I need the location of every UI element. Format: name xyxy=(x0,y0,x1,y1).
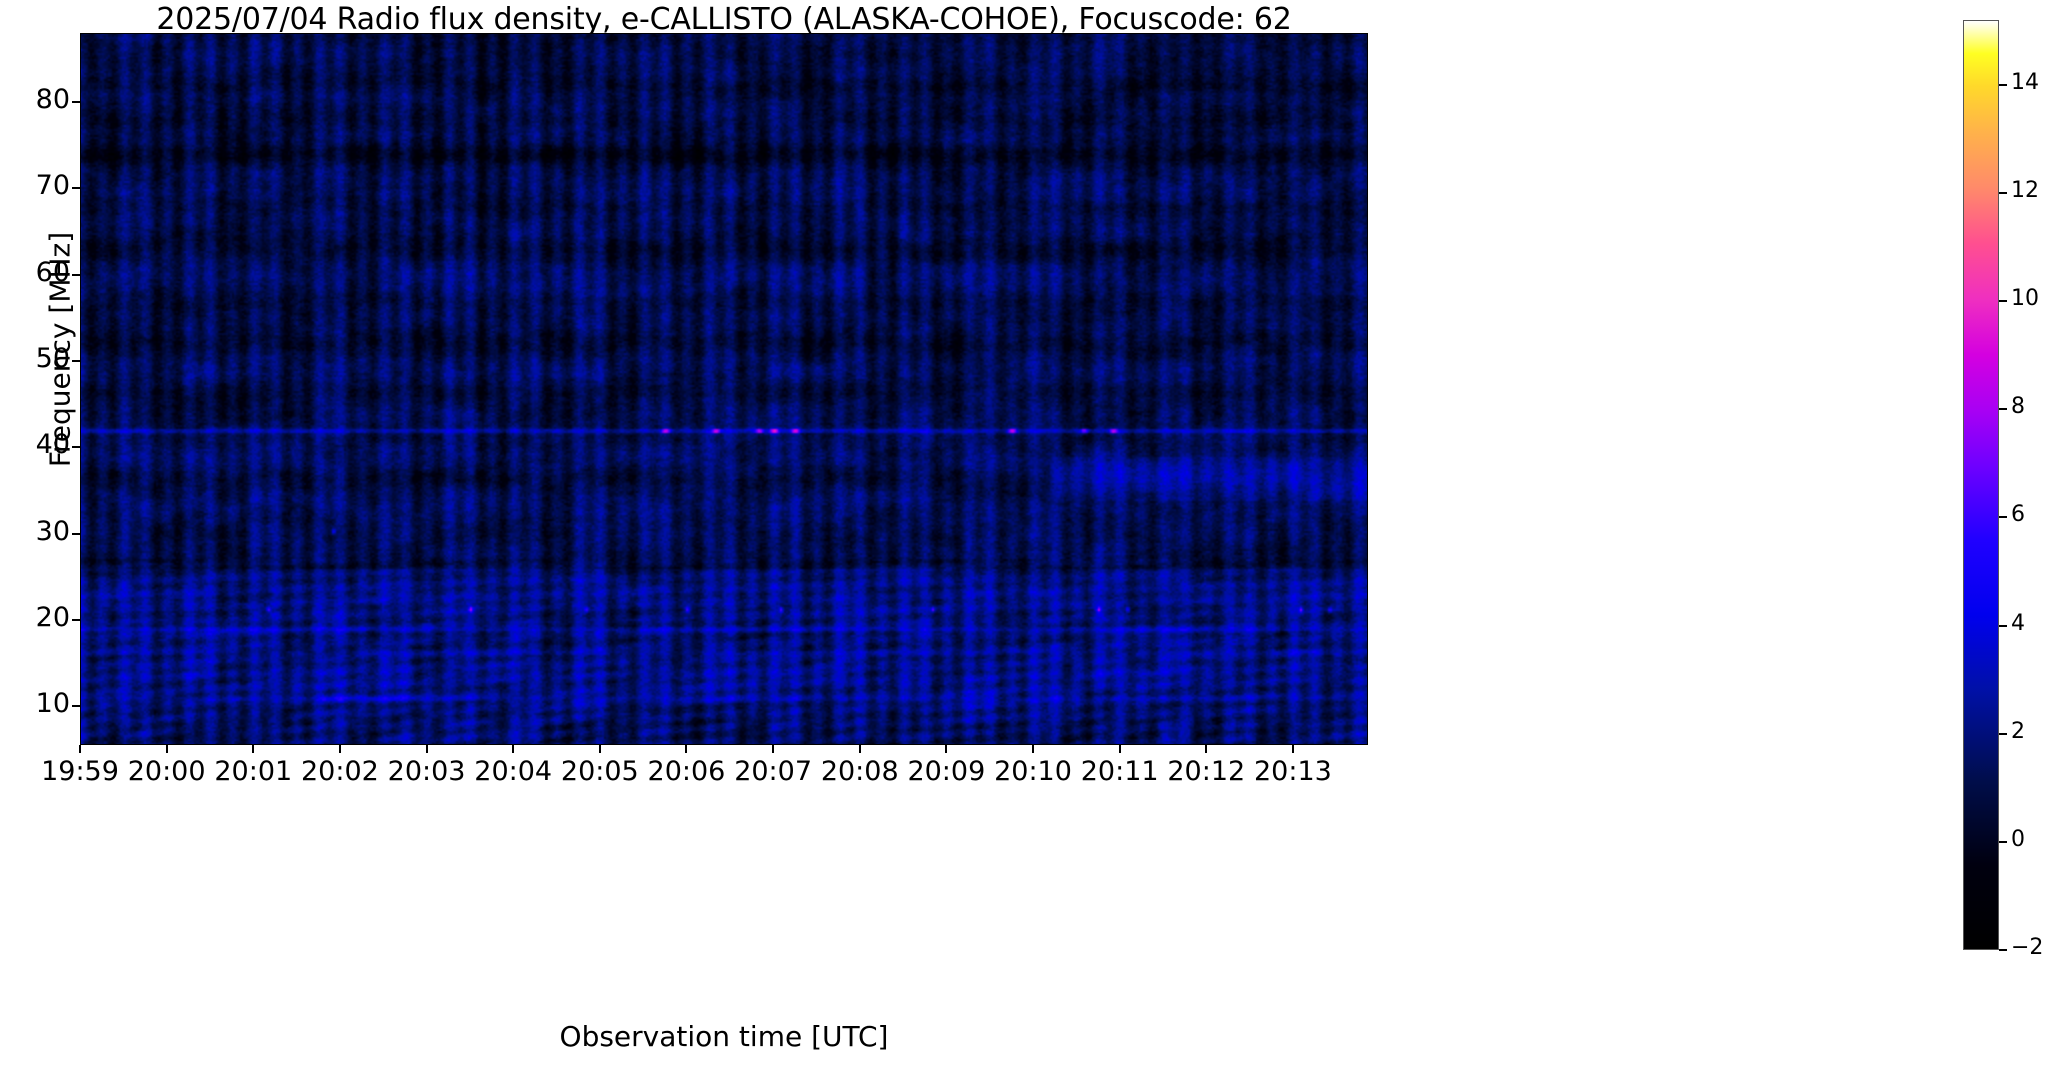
colorbar-tick-mark xyxy=(1999,841,2007,843)
colorbar-tick-mark xyxy=(1999,733,2007,735)
colorbar-tick-label-10: 10 xyxy=(2011,286,2047,311)
colorbar xyxy=(1963,20,1999,950)
colorbar-tick-label-4: 4 xyxy=(2011,611,2047,636)
colorbar-tick-label-14: 14 xyxy=(2011,70,2047,95)
colorbar-gradient xyxy=(1964,21,1998,949)
x-tick-mark xyxy=(599,745,601,753)
colorbar-tick-mark xyxy=(1999,949,2007,951)
y-tick-mark xyxy=(72,619,80,621)
colorbar-tick-label-8: 8 xyxy=(2011,394,2047,419)
colorbar-tick-mark xyxy=(1999,625,2007,627)
spectrogram-image xyxy=(80,33,1368,745)
colorbar-tick-mark xyxy=(1999,84,2007,86)
y-tick-label-80: 80 xyxy=(0,84,70,115)
colorbar-tick-label-0: 0 xyxy=(2011,827,2047,852)
colorbar-tick-label-12: 12 xyxy=(2011,178,2047,203)
x-tick-mark xyxy=(1292,745,1294,753)
x-tick-mark xyxy=(772,745,774,753)
x-tick-label-20-13: 20:13 xyxy=(1213,756,1373,787)
colorbar-tick-label-neg2: −2 xyxy=(2011,935,2047,960)
x-tick-mark xyxy=(79,745,81,753)
y-tick-label-10: 10 xyxy=(0,688,70,719)
spectrogram-figure: 2025/07/04 Radio flux density, e-CALLIST… xyxy=(0,0,2047,1067)
x-axis-label: Observation time [UTC] xyxy=(80,1020,1368,1053)
x-tick-mark xyxy=(512,745,514,753)
colorbar-tick-label-6: 6 xyxy=(2011,502,2047,527)
y-tick-mark xyxy=(72,705,80,707)
x-tick-mark xyxy=(339,745,341,753)
colorbar-tick-mark xyxy=(1999,300,2007,302)
x-tick-mark xyxy=(945,745,947,753)
x-tick-mark xyxy=(685,745,687,753)
x-tick-mark xyxy=(1119,745,1121,753)
y-tick-label-20: 20 xyxy=(0,602,70,633)
x-tick-mark xyxy=(166,745,168,753)
y-tick-mark xyxy=(72,101,80,103)
colorbar-tick-mark xyxy=(1999,516,2007,518)
x-tick-mark xyxy=(426,745,428,753)
colorbar-tick-label-2: 2 xyxy=(2011,719,2047,744)
spectrogram-plot-area[interactable] xyxy=(80,33,1368,745)
x-tick-mark xyxy=(252,745,254,753)
colorbar-tick-mark xyxy=(1999,192,2007,194)
y-axis-label: Frequency [MHz] xyxy=(44,150,77,550)
page-title: 2025/07/04 Radio flux density, e-CALLIST… xyxy=(80,2,1368,37)
colorbar-tick-mark xyxy=(1999,408,2007,410)
x-tick-mark xyxy=(1032,745,1034,753)
x-tick-mark xyxy=(859,745,861,753)
x-tick-mark xyxy=(1205,745,1207,753)
